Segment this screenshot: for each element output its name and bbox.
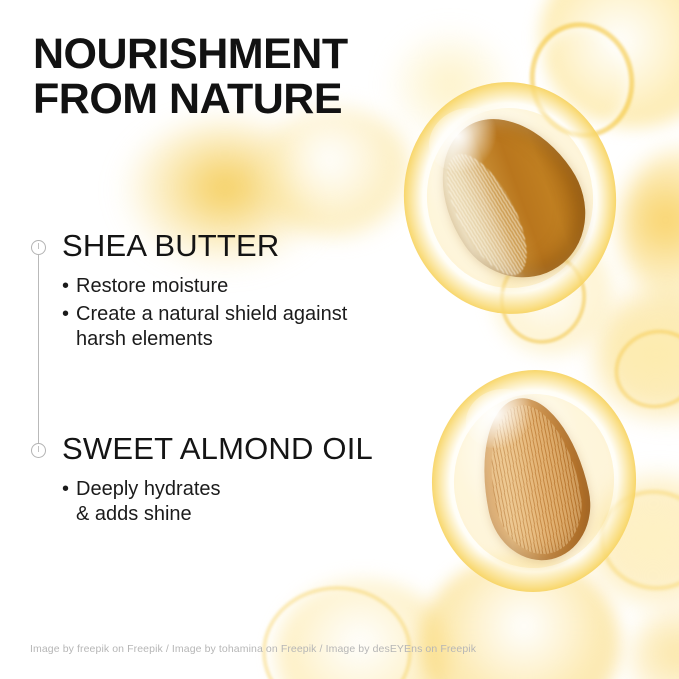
list-item: Create a natural shield against harsh el… (62, 302, 347, 352)
shea-nut-image (392, 72, 627, 325)
timeline-marker-shea (31, 240, 46, 255)
section-heading-sweet-almond-oil: SWEET ALMOND OIL (62, 431, 373, 467)
list-item: Restore moisture (62, 274, 347, 299)
timeline-connector (38, 255, 39, 447)
oil-droplet-blob (620, 148, 679, 308)
section-shea-butter: SHEA BUTTER Restore moisture Create a na… (62, 228, 347, 356)
oil-droplet-blob (262, 108, 412, 238)
page-title: NOURISHMENT FROM NATURE (33, 32, 348, 121)
bullet-list-sweet-almond-oil: Deeply hydrates & adds shine (62, 477, 373, 527)
oil-droplet-blob (276, 580, 451, 679)
section-heading-shea-butter: SHEA BUTTER (62, 228, 347, 264)
nourishment-poster: NOURISHMENT FROM NATURE SHEA BUTTER Rest… (0, 0, 679, 679)
section-sweet-almond-oil: SWEET ALMOND OIL Deeply hydrates & adds … (62, 431, 373, 530)
almond-image (425, 363, 644, 599)
oil-droplet-blob (630, 604, 679, 679)
image-credits: Image by freepik on Freepik / Image by t… (30, 643, 476, 655)
list-item: Deeply hydrates & adds shine (62, 477, 373, 527)
bullet-list-shea-butter: Restore moisture Create a natural shield… (62, 274, 347, 353)
oil-droplet-ring (262, 586, 412, 679)
timeline-marker-almond (31, 443, 46, 458)
